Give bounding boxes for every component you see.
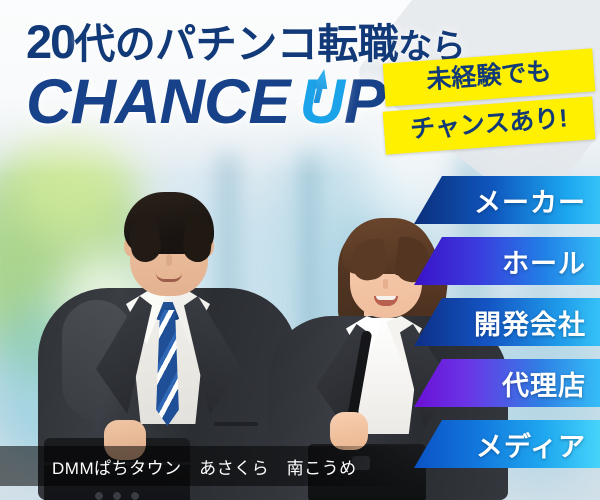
male-hair [124,192,214,254]
no-experience-badge: 未経験でも チャンスあり! [384,56,594,147]
female-hand [330,412,368,450]
category-list: メーカー ホール 開発会社 代理店 メディア [414,176,600,481]
logo-letter-p: P [344,67,385,137]
headline-age-number: 20 [26,15,74,68]
category-label: メーカー [474,181,586,220]
logo-letter-u-arrow-icon: U [300,71,345,134]
category-button-agency[interactable]: 代理店 [414,359,600,407]
headline-tagline-main: 代のパチンコ転職 [74,21,398,67]
badge-line-2: チャンスあり! [383,96,596,154]
category-button-development-company[interactable]: 開発会社 [414,298,600,346]
female-nose [383,279,388,289]
advertisement-banner[interactable]: 20代のパチンコ転職なら CHANCEUP 未経験でも チャンスあり! メーカー… [0,0,600,500]
headline-tagline: 20代のパチンコ転職なら [26,18,446,65]
category-button-media[interactable]: メディア [414,420,600,468]
male-nose [166,254,172,266]
logo-word-up: UP [300,71,386,134]
credit-strip: DMMぱちタウン あさくら 南こうめ [0,446,420,486]
category-label: ホール [502,242,586,281]
briefcase-studs [90,492,144,500]
category-label: 開発会社 [474,303,586,342]
male-jacket-pocket [214,422,258,426]
logo-word-chance: CHANCE [26,67,290,137]
credit-text: DMMぱちタウン あさくら 南こうめ [0,454,357,479]
category-button-hall[interactable]: ホール [414,237,600,285]
category-button-maker[interactable]: メーカー [414,176,600,224]
category-label: 代理店 [502,364,586,403]
category-label: メディア [476,425,586,464]
